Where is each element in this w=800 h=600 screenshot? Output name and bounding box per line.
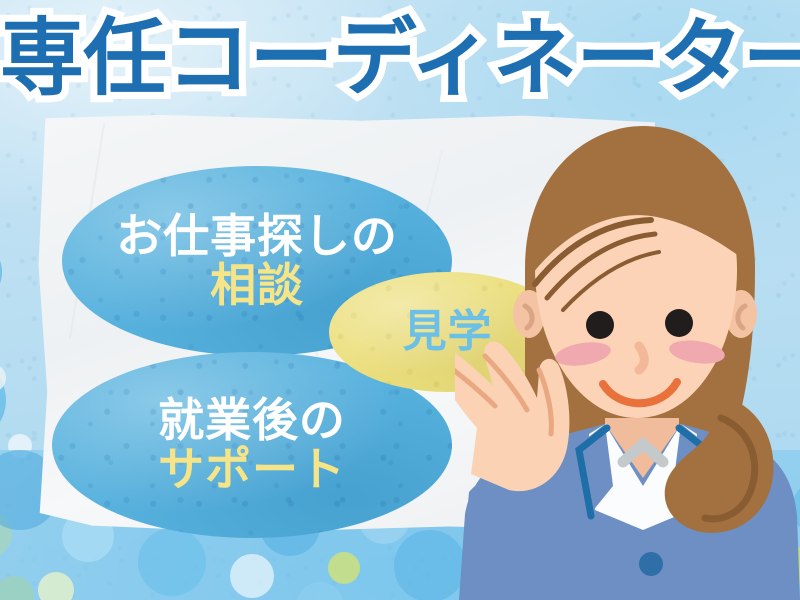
nose xyxy=(639,346,644,370)
consultation-line-2: 相談 xyxy=(210,262,304,309)
eye-right xyxy=(665,309,693,337)
support-line-1: 就業後の xyxy=(158,397,346,444)
jacket-button xyxy=(639,552,663,576)
consultation-line-1: お仕事探しの xyxy=(116,213,398,260)
banner-canvas: お仕事探しの 相談 就業後の サポート 見学 専任コーディネーターが xyxy=(0,0,800,600)
page-title-main: 専任コーディネーター xyxy=(0,11,800,105)
page-title: 専任コーディネーターが xyxy=(0,16,800,100)
eye-left xyxy=(586,311,614,339)
female-coordinator xyxy=(455,118,800,600)
support-line-2: サポート xyxy=(158,446,346,493)
coordinator-illustration xyxy=(455,118,800,600)
